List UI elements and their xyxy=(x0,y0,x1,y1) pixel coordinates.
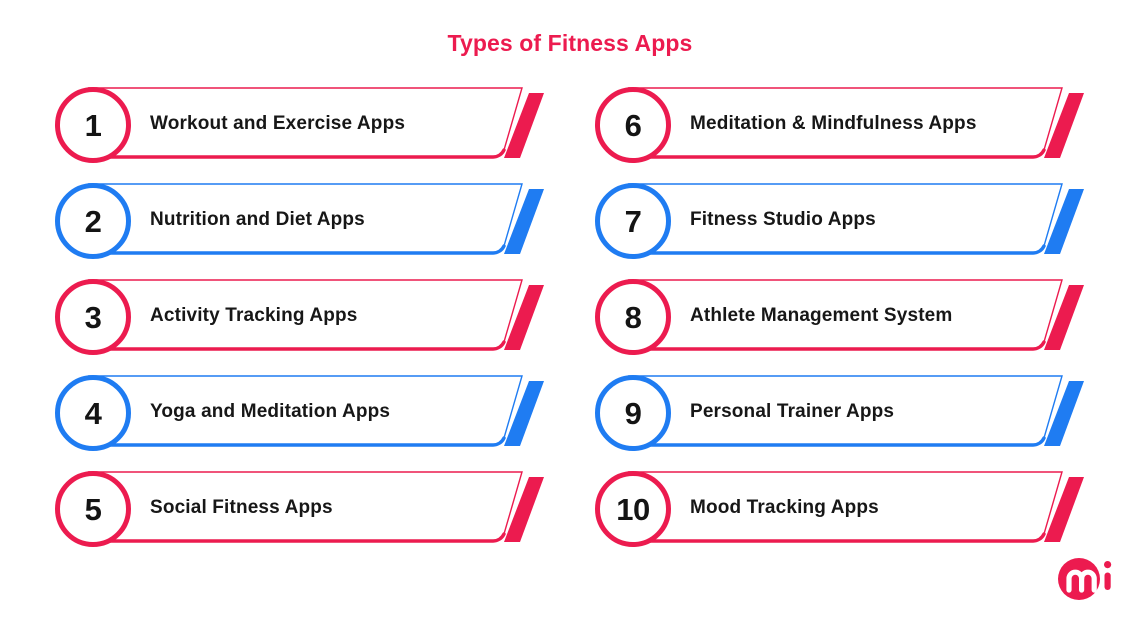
item-number: 1 xyxy=(85,110,102,141)
item-label: Personal Trainer Apps xyxy=(690,372,1032,452)
item-number-badge: 2 xyxy=(55,183,131,259)
item-label: Social Fitness Apps xyxy=(150,468,492,548)
item-label: Mood Tracking Apps xyxy=(690,468,1032,548)
item-label: Yoga and Meditation Apps xyxy=(150,372,492,452)
list-item: 5Social Fitness Apps xyxy=(52,468,562,548)
item-number: 10 xyxy=(616,494,649,525)
item-number-badge: 8 xyxy=(595,279,671,355)
banner-wedge xyxy=(504,381,544,446)
banner-wedge xyxy=(504,189,544,254)
banner-wedge xyxy=(1044,189,1084,254)
item-label: Meditation & Mindfulness Apps xyxy=(690,84,1032,164)
page-title: Types of Fitness Apps xyxy=(0,30,1140,57)
list-item: 10Mood Tracking Apps xyxy=(592,468,1102,548)
banner-wedge xyxy=(1044,93,1084,158)
item-label: Athlete Management System xyxy=(690,276,1032,356)
list-item: 8Athlete Management System xyxy=(592,276,1102,356)
banner-wedge xyxy=(504,93,544,158)
item-label: Workout and Exercise Apps xyxy=(150,84,492,164)
item-number: 7 xyxy=(625,206,642,237)
banner-wedge xyxy=(1044,285,1084,350)
item-number-badge: 6 xyxy=(595,87,671,163)
banner-wedge xyxy=(504,477,544,542)
mi-logo xyxy=(1058,558,1120,602)
item-label: Nutrition and Diet Apps xyxy=(150,180,492,260)
item-number-badge: 4 xyxy=(55,375,131,451)
item-number-badge: 7 xyxy=(595,183,671,259)
item-number-badge: 5 xyxy=(55,471,131,547)
item-label: Activity Tracking Apps xyxy=(150,276,492,356)
item-number: 5 xyxy=(85,494,102,525)
list-item: 4Yoga and Meditation Apps xyxy=(52,372,562,452)
list-item: 9Personal Trainer Apps xyxy=(592,372,1102,452)
item-number: 6 xyxy=(625,110,642,141)
item-label: Fitness Studio Apps xyxy=(690,180,1032,260)
item-number: 9 xyxy=(625,398,642,429)
banner-wedge xyxy=(504,285,544,350)
item-number-badge: 3 xyxy=(55,279,131,355)
banner-wedge xyxy=(1044,381,1084,446)
left-column: 1Workout and Exercise Apps2Nutrition and… xyxy=(52,84,562,564)
list-item: 2Nutrition and Diet Apps xyxy=(52,180,562,260)
list-item: 3Activity Tracking Apps xyxy=(52,276,562,356)
list-item: 7Fitness Studio Apps xyxy=(592,180,1102,260)
right-column: 6Meditation & Mindfulness Apps7Fitness S… xyxy=(592,84,1102,564)
item-number: 3 xyxy=(85,302,102,333)
list-item: 1Workout and Exercise Apps xyxy=(52,84,562,164)
item-number-badge: 10 xyxy=(595,471,671,547)
infographic-canvas: Types of Fitness Apps 1Workout and Exerc… xyxy=(0,0,1140,626)
item-number-badge: 1 xyxy=(55,87,131,163)
item-number: 2 xyxy=(85,206,102,237)
list-item: 6Meditation & Mindfulness Apps xyxy=(592,84,1102,164)
item-number: 4 xyxy=(85,398,102,429)
banner-wedge xyxy=(1044,477,1084,542)
item-number: 8 xyxy=(625,302,642,333)
item-number-badge: 9 xyxy=(595,375,671,451)
